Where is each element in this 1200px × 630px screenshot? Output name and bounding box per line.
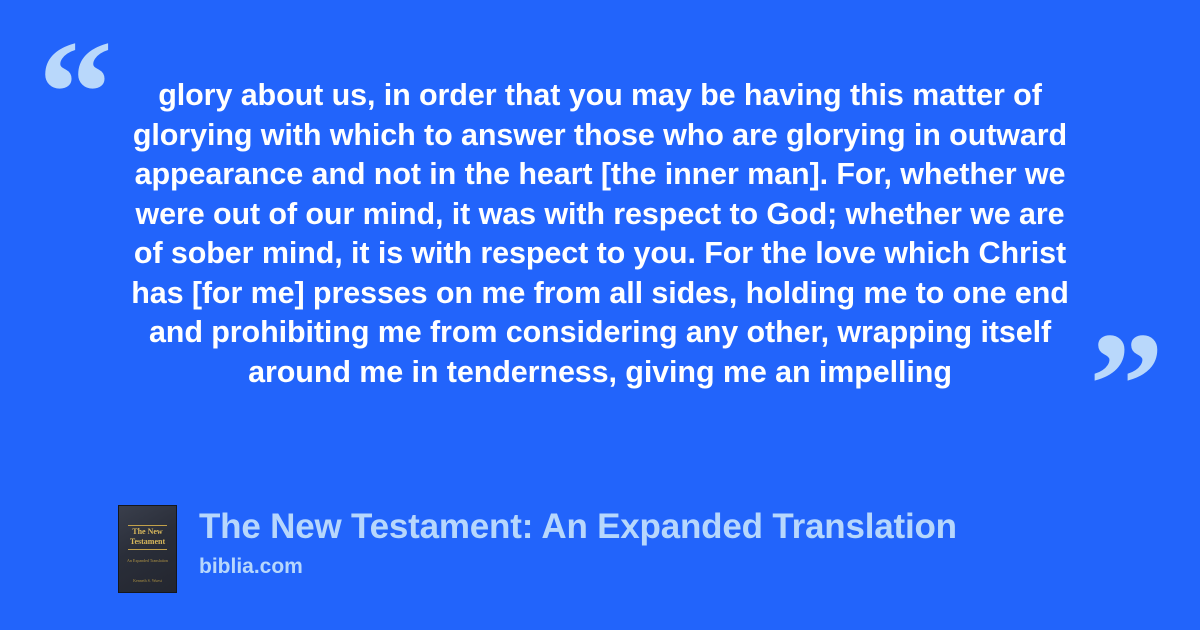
attribution-footer: The New Testament An Expanded Translatio… (118, 505, 957, 593)
quote-line: appearance and not in the heart [the inn… (100, 155, 1100, 195)
quote-line: and prohibiting me from considering any … (100, 313, 1100, 353)
book-cover-thumbnail: The New Testament An Expanded Translatio… (118, 505, 177, 593)
attribution-text: The New Testament: An Expanded Translati… (199, 505, 957, 580)
quote-card: “ glory about us, in order that you may … (0, 0, 1200, 630)
quote-line: glorying with which to answer those who … (100, 116, 1100, 156)
cover-author: Kenneth S. Wuest (125, 578, 170, 583)
source-title: The New Testament: An Expanded Translati… (199, 506, 957, 548)
source-site[interactable]: biblia.com (199, 554, 957, 580)
quote-line: around me in tenderness, giving me an im… (100, 353, 1100, 393)
quote-line: of sober mind, it is with respect to you… (100, 234, 1100, 274)
cover-rule-bottom (128, 549, 167, 550)
quote-line: were out of our mind, it was with respec… (100, 195, 1100, 235)
cover-subtitle: An Expanded Translation (125, 558, 170, 564)
quote-text: glory about us, in order that you may be… (100, 76, 1100, 392)
quote-line: has [for me] presses on me from all side… (100, 274, 1100, 314)
closing-quote-icon: ” (1089, 310, 1164, 460)
quote-line: glory about us, in order that you may be… (100, 76, 1100, 116)
cover-title: The New Testament (123, 527, 172, 547)
cover-rule-top (128, 525, 167, 526)
